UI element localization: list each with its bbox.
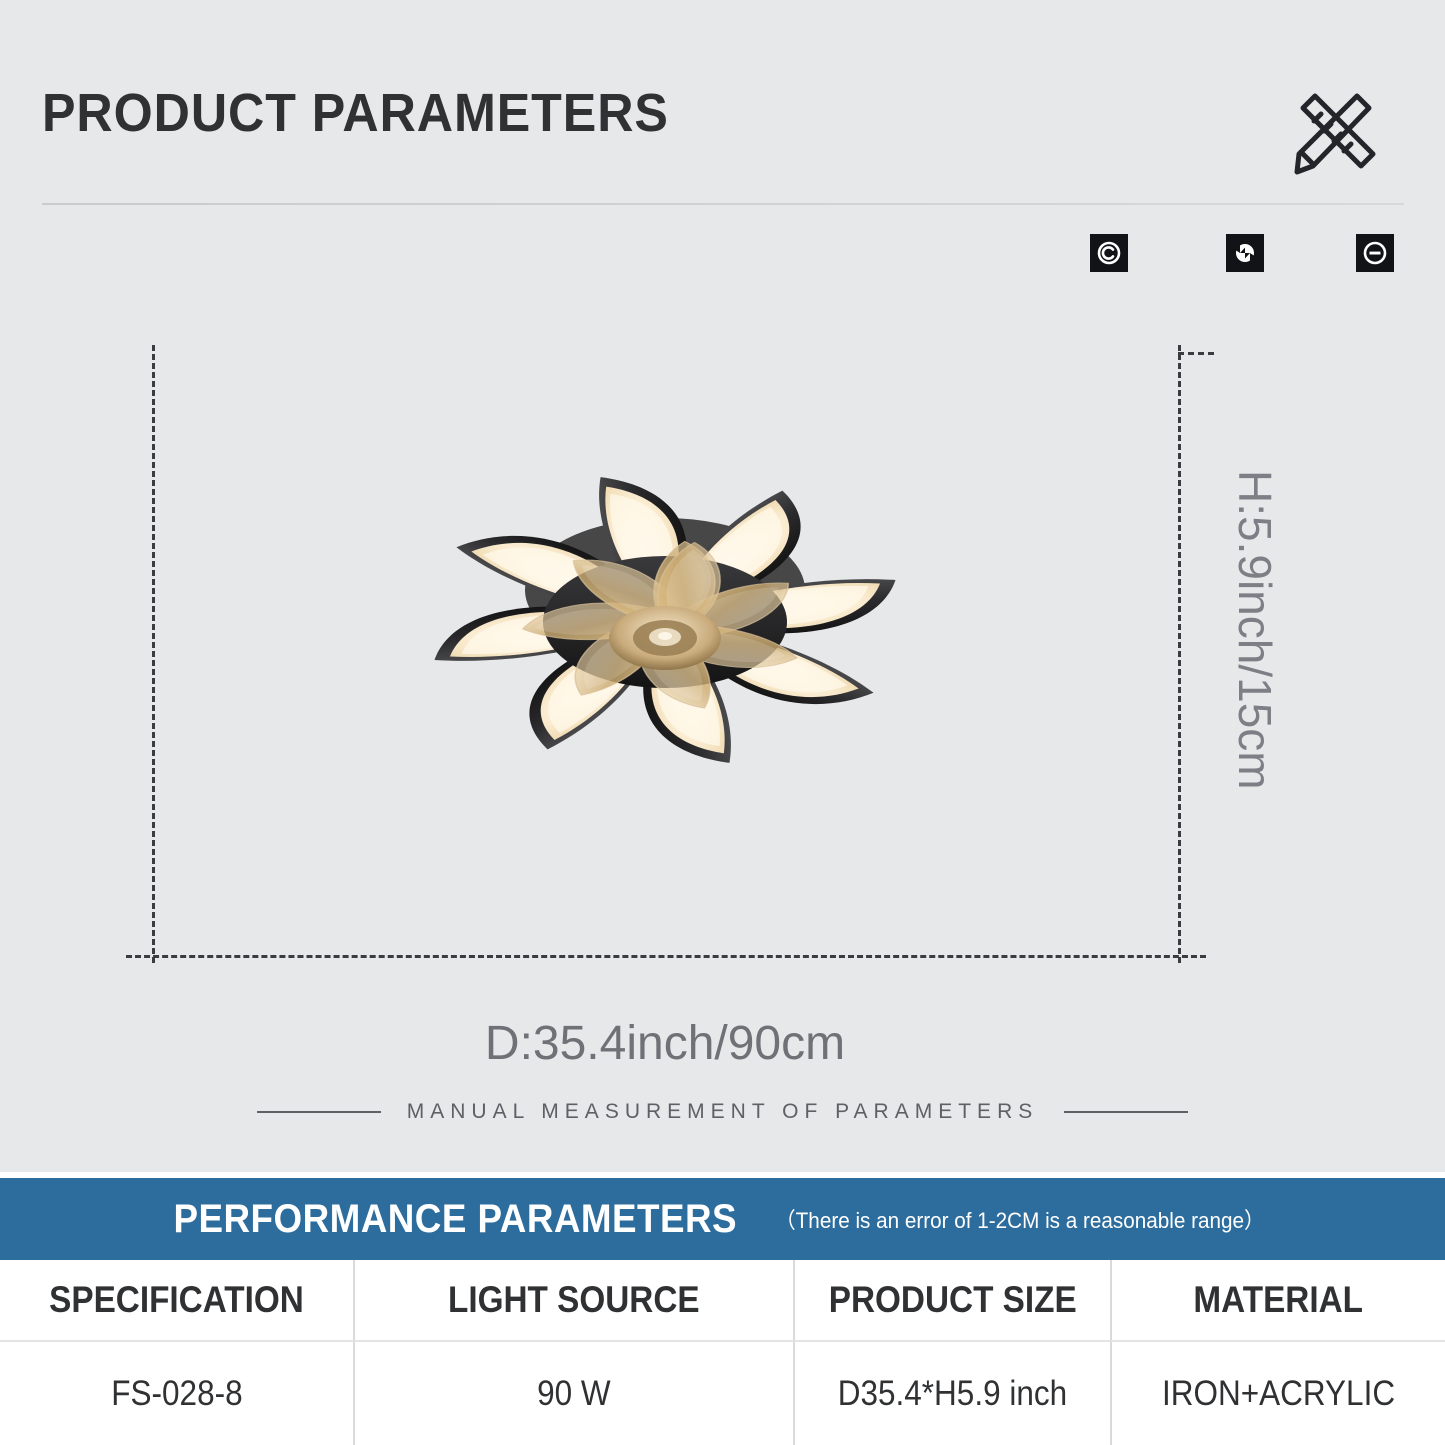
diagram-panel: PRODUCT PARAMETERS	[0, 0, 1445, 1172]
caption-rule-right	[1064, 1111, 1188, 1113]
table-header-cell-material: MATERIAL	[1110, 1260, 1445, 1340]
ruler-pencil-icon	[1281, 78, 1391, 188]
copyright-icon	[1095, 239, 1123, 267]
manual-measurement-caption: MANUAL MEASUREMENT OF PARAMETERS	[0, 1100, 1445, 1124]
header-label: LIGHT SOURCE	[448, 1279, 700, 1321]
cell-value: FS-028-8	[111, 1374, 242, 1414]
page-title: PRODUCT PARAMETERS	[42, 82, 669, 144]
table-cell-product-size: D35.4*H5.9 inch	[793, 1340, 1110, 1445]
table-cell-light-source: 90 W	[353, 1340, 793, 1445]
diameter-dimension-label: D:35.4inch/90cm	[0, 1016, 1330, 1071]
diameter-guide-line	[126, 955, 1206, 958]
table-header-cell-product-size: PRODUCT SIZE	[793, 1260, 1110, 1340]
header-label: MATERIAL	[1194, 1279, 1364, 1321]
header-label: SPECIFICATION	[49, 1279, 304, 1321]
performance-title: PERFORMANCE PARAMETERS	[173, 1197, 737, 1242]
table-row: FS-028-8 90 W D35.4*H5.9 inch IRON+ACRYL…	[0, 1340, 1445, 1445]
caption-text: MANUAL MEASUREMENT OF PARAMETERS	[407, 1100, 1039, 1124]
cell-value: 90 W	[537, 1374, 611, 1414]
refresh-badge	[1226, 234, 1264, 272]
table-cell-specification: FS-028-8	[0, 1340, 353, 1445]
cell-value: D35.4*H5.9 inch	[838, 1374, 1067, 1414]
badge-group	[1090, 234, 1400, 274]
header-label: PRODUCT SIZE	[829, 1279, 1077, 1321]
performance-header-bar: PERFORMANCE PARAMETERS （There is an erro…	[0, 1178, 1445, 1260]
cell-value: IRON+ACRYLIC	[1162, 1374, 1395, 1414]
performance-note: （There is an error of 1-2CM is a reasona…	[775, 1203, 1265, 1235]
ceiling-fan-light-image	[150, 290, 1180, 950]
minus-circle-icon	[1361, 239, 1389, 267]
performance-table: SPECIFICATION LIGHT SOURCE PRODUCT SIZE …	[0, 1260, 1445, 1445]
refresh-icon	[1231, 239, 1259, 267]
product-parameters-page: PRODUCT PARAMETERS	[0, 0, 1445, 1445]
table-header-cell-specification: SPECIFICATION	[0, 1260, 353, 1340]
table-cell-material: IRON+ACRYLIC	[1110, 1340, 1445, 1445]
table-header-cell-light-source: LIGHT SOURCE	[353, 1260, 793, 1340]
height-dimension-label: H:5.9inch/15cm	[1228, 470, 1282, 790]
copyright-badge	[1090, 234, 1128, 272]
table-header-row: SPECIFICATION LIGHT SOURCE PRODUCT SIZE …	[0, 1260, 1445, 1340]
height-top-guide-line	[1178, 352, 1214, 355]
title-divider	[42, 203, 1404, 205]
caption-rule-left	[257, 1111, 381, 1113]
no-entry-badge	[1356, 234, 1394, 272]
